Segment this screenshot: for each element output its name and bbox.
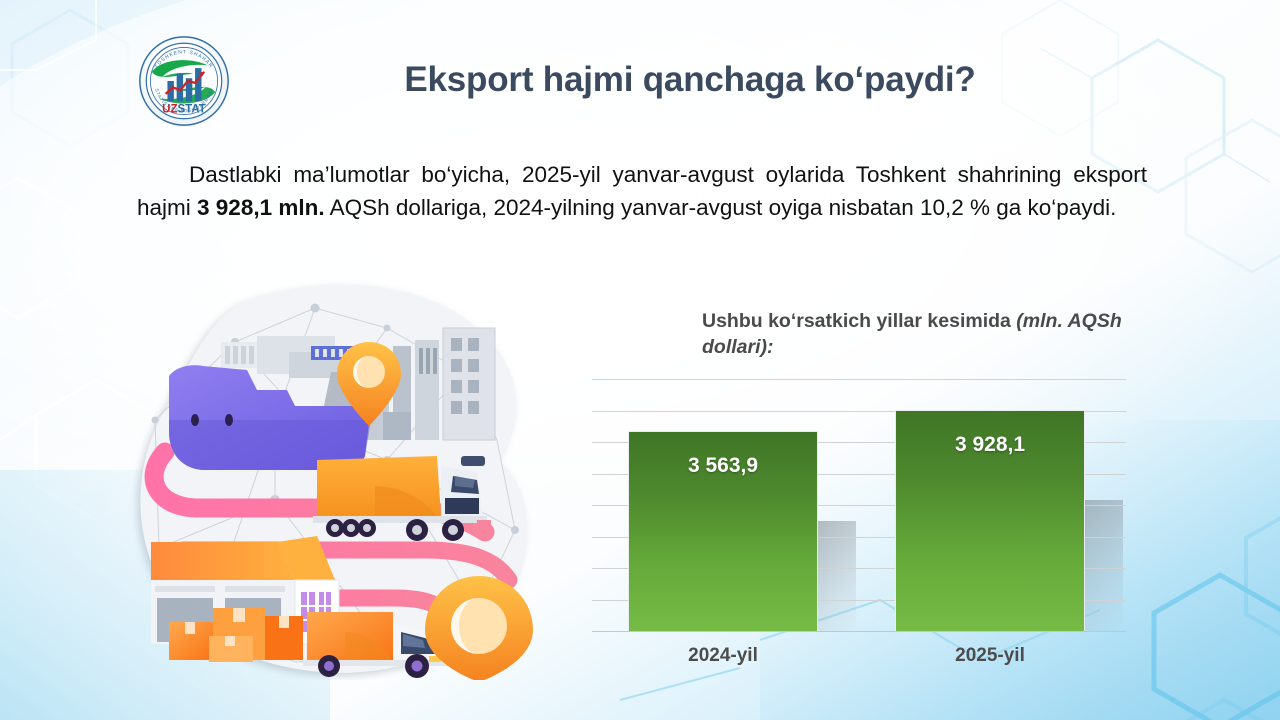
- chart-gridline: [592, 379, 1126, 380]
- summary-paragraph: Dastlabki ma’lumotlar bo‘yicha, 2025-yil…: [137, 158, 1147, 224]
- paragraph-highlight-value: 3 928,1 mln.: [197, 195, 325, 220]
- chart-bar-2025-yil[interactable]: 3 928,1: [895, 410, 1085, 631]
- page-title: Eksport hajmi qanchaga ko‘paydi?: [250, 60, 1130, 100]
- chart-bar-2024-yil[interactable]: 3 563,9: [628, 431, 818, 631]
- bar-chart: Ushbu ko‘rsatkich yillar kesimida (mln. …: [592, 308, 1132, 668]
- chart-x-label: 2025-yil: [895, 645, 1085, 667]
- chart-heading-main: Ushbu ko‘rsatkich yillar kesimida: [702, 310, 1016, 332]
- logistics-export-illustration: [125, 280, 555, 680]
- chart-baseline: [592, 631, 1126, 632]
- bar-shadow: [1081, 500, 1123, 631]
- chart-heading: Ushbu ko‘rsatkich yillar kesimida (mln. …: [702, 308, 1122, 360]
- uzstat-logo: UZSTAT TOSHKENT SHAHAR STATISTIKA BOSHQA…: [138, 35, 230, 127]
- chart-x-label: 2024-yil: [628, 645, 818, 667]
- bar-value-label: 3 563,9: [629, 454, 817, 478]
- bar-value-label: 3 928,1: [896, 433, 1084, 457]
- chart-plot-area: 3 563,92024-yil3 928,12025-yil: [592, 379, 1126, 631]
- paragraph-part-2: AQSh dollariga, 2024-yilning yanvar-avgu…: [325, 195, 1117, 220]
